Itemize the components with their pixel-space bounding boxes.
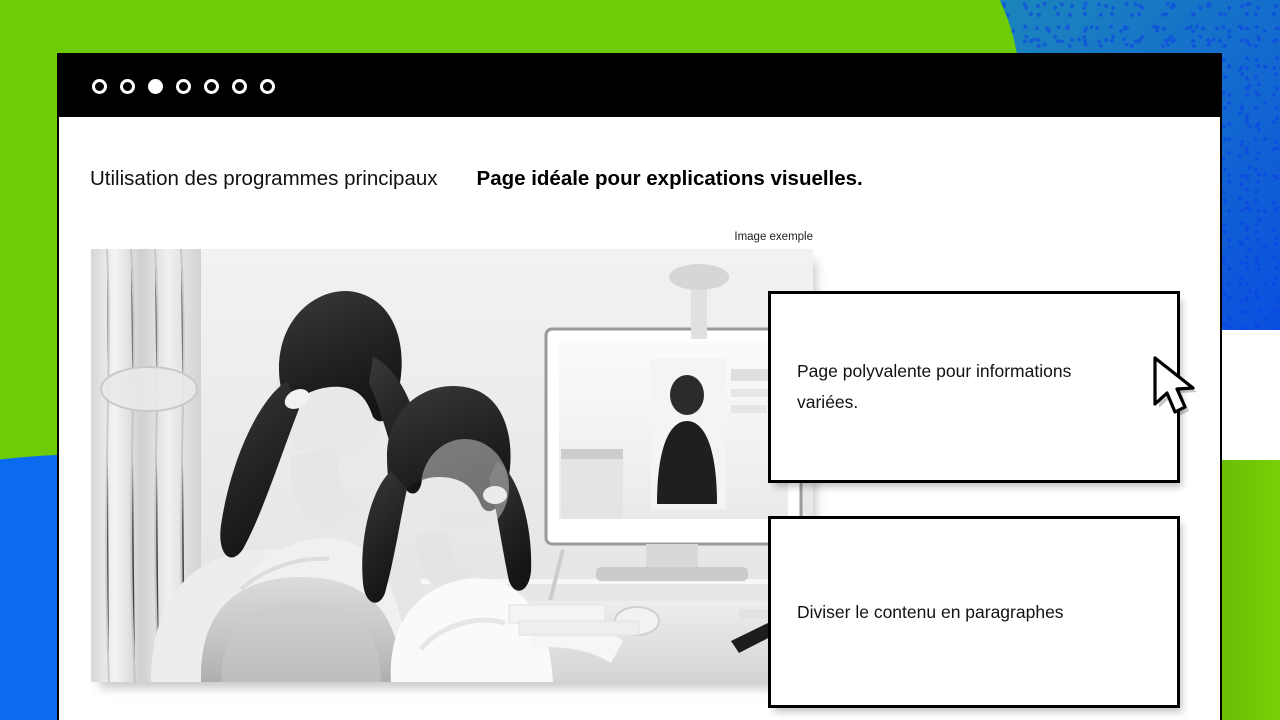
pagination-dot-6[interactable] bbox=[232, 79, 247, 94]
photo-caption: Image exemple bbox=[734, 231, 813, 243]
callout-box-2[interactable]: Diviser le contenu en paragraphes bbox=[768, 516, 1180, 708]
headings-row: Utilisation des programmes principaux Pa… bbox=[90, 167, 1200, 191]
example-photo bbox=[91, 249, 813, 682]
pagination-dot-4[interactable] bbox=[176, 79, 191, 94]
callout-box-1[interactable]: Page polyvalente pour informations varié… bbox=[768, 291, 1180, 483]
page-subtitle: Utilisation des programmes principaux bbox=[90, 167, 438, 191]
pagination-dot-1[interactable] bbox=[92, 79, 107, 94]
callout-1-text: Page polyvalente pour informations varié… bbox=[771, 356, 1153, 418]
callout-2-text: Diviser le contenu en paragraphes bbox=[771, 597, 1090, 628]
browser-window: Utilisation des programmes principaux Pa… bbox=[57, 53, 1222, 720]
page-title: Page idéale pour explications visuelles. bbox=[477, 167, 863, 191]
pagination-dot-3-active[interactable] bbox=[148, 79, 163, 94]
browser-chrome-bar bbox=[59, 55, 1220, 117]
pagination-dot-2[interactable] bbox=[120, 79, 135, 94]
pagination-dot-5[interactable] bbox=[204, 79, 219, 94]
pagination-dot-7[interactable] bbox=[260, 79, 275, 94]
photo-block: Image exemple bbox=[91, 249, 813, 682]
page-content: Utilisation des programmes principaux Pa… bbox=[59, 117, 1220, 720]
